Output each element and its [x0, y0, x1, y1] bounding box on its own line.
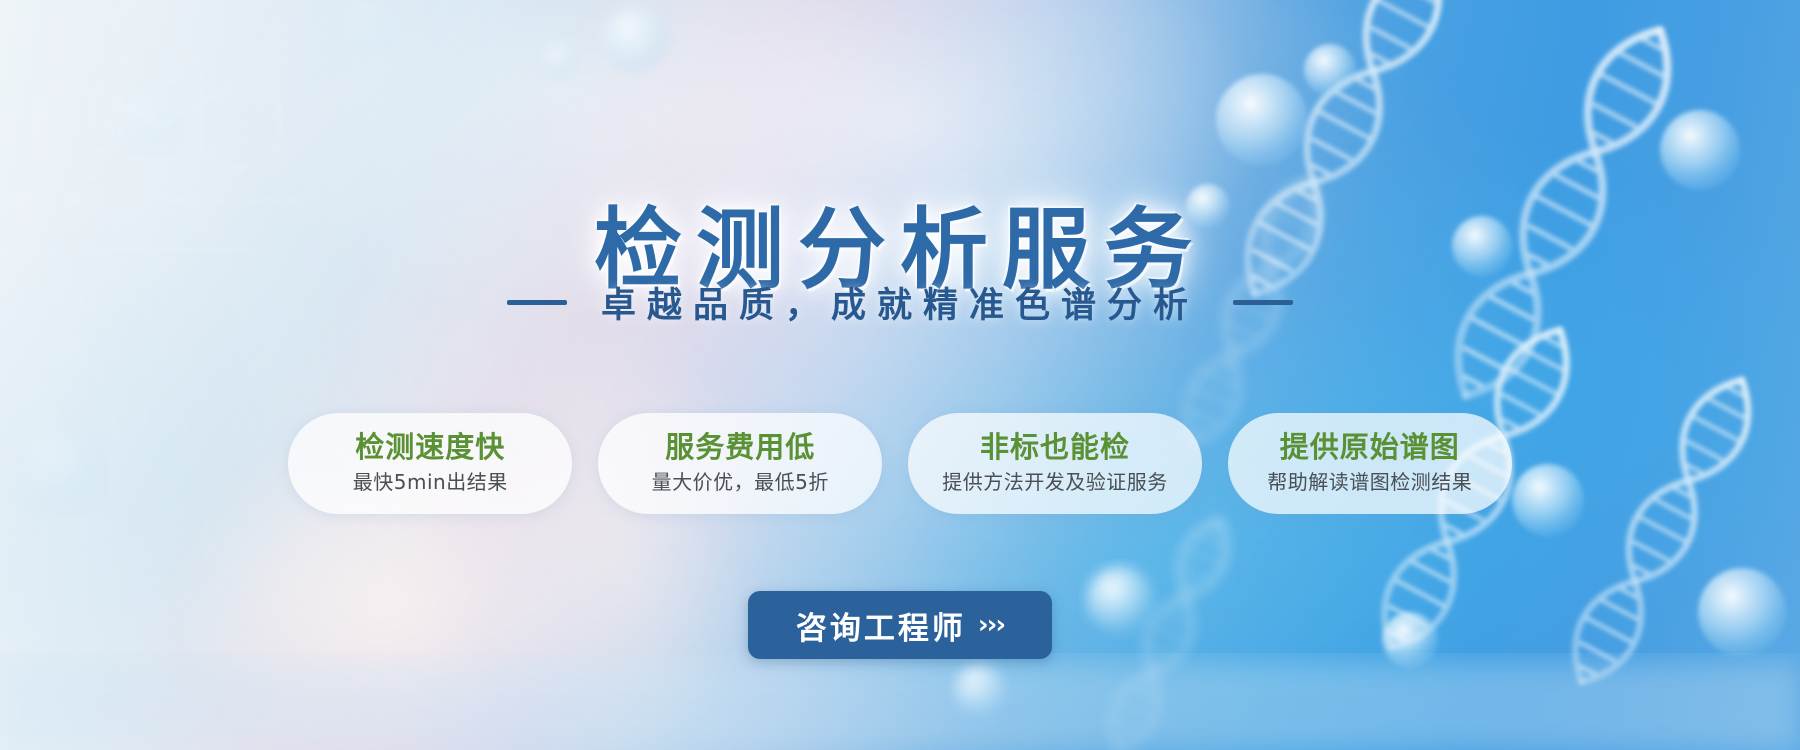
- feature-pill-price[interactable]: 服务费用低 量大价优，最低5折: [598, 413, 882, 514]
- feature-title: 检测速度快: [322, 429, 538, 465]
- cta-row: 咨询工程师 ›››: [0, 591, 1800, 659]
- page-subtitle: 卓越品质，成就精准色谱分析: [601, 277, 1199, 328]
- feature-title: 提供原始谱图: [1262, 429, 1478, 465]
- feature-subtitle: 量大价优，最低5折: [632, 469, 848, 495]
- feature-title: 服务费用低: [632, 429, 848, 465]
- promo-banner: 检测分析服务 卓越品质，成就精准色谱分析 检测速度快 最快5min出结果 服务费…: [0, 0, 1800, 750]
- banner-content: 检测分析服务 卓越品质，成就精准色谱分析 检测速度快 最快5min出结果 服务费…: [0, 0, 1800, 750]
- feature-pill-nonstandard[interactable]: 非标也能检 提供方法开发及验证服务: [908, 413, 1202, 514]
- feature-pill-speed[interactable]: 检测速度快 最快5min出结果: [288, 413, 572, 514]
- feature-title: 非标也能检: [942, 429, 1168, 465]
- consult-engineer-button[interactable]: 咨询工程师 ›››: [748, 591, 1052, 659]
- feature-subtitle: 帮助解读谱图检测结果: [1262, 469, 1478, 495]
- feature-pill-raw-spectra[interactable]: 提供原始谱图 帮助解读谱图检测结果: [1228, 413, 1512, 514]
- chevrons-right-icon: ›››: [978, 610, 1004, 640]
- feature-subtitle: 最快5min出结果: [322, 469, 538, 495]
- dash-right-icon: [1233, 300, 1293, 305]
- subtitle-row: 卓越品质，成就精准色谱分析: [0, 277, 1800, 328]
- feature-subtitle: 提供方法开发及验证服务: [942, 469, 1168, 495]
- cta-label: 咨询工程师: [796, 603, 966, 648]
- dash-left-icon: [507, 300, 567, 305]
- feature-pill-list: 检测速度快 最快5min出结果 服务费用低 量大价优，最低5折 非标也能检 提供…: [0, 413, 1800, 514]
